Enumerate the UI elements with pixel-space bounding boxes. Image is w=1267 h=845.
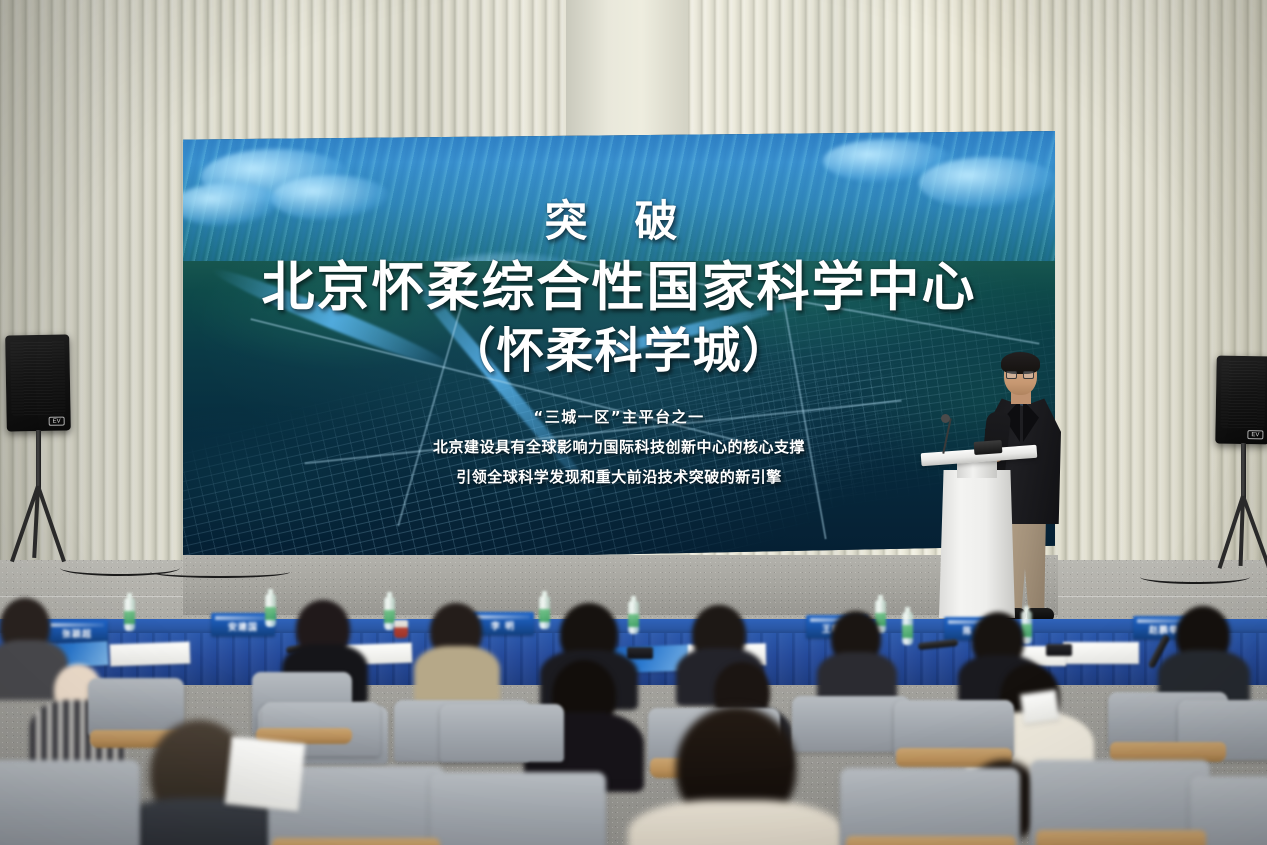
- mobile-phone: [1046, 644, 1072, 656]
- speaker-grille: [10, 340, 65, 416]
- water-bottle: [902, 612, 913, 645]
- handout-paper: [1020, 690, 1060, 725]
- seat-frame: [272, 838, 440, 845]
- water-bottle: [539, 596, 550, 629]
- handout-paper: [225, 736, 306, 811]
- attendee-body: [628, 800, 844, 845]
- speaker-stand-pole: [36, 430, 41, 492]
- curtain-shadow-left: [0, 0, 190, 620]
- speaker-grille: [1221, 361, 1266, 429]
- nameplate: 张颖超: [46, 620, 108, 643]
- floor-cable: [1140, 570, 1250, 584]
- presentation-screen: 突 破 北京怀柔综合性国家科学中心 （怀柔科学城） “三城一区”主平台之一 北京…: [183, 131, 1055, 563]
- seat-frame: [1036, 830, 1206, 845]
- mobile-phone: [627, 647, 653, 659]
- screen-surface: 突 破 北京怀柔综合性国家科学中心 （怀柔科学城） “三城一区”主平台之一 北京…: [183, 131, 1055, 563]
- conference-photo-scene: 突 破 北京怀柔综合性国家科学中心 （怀柔科学城） “三城一区”主平台之一 北京…: [0, 0, 1267, 845]
- nameplate-name: 张颖超: [46, 627, 108, 640]
- auditorium-seat[interactable]: [840, 768, 1020, 845]
- microphone-icon: [941, 414, 950, 423]
- screen-glow: [183, 131, 1055, 563]
- speaker-brand-logo: EV: [49, 417, 65, 426]
- speaker-stand-pole: [1241, 443, 1246, 501]
- document-paper: [1063, 642, 1139, 664]
- auditorium-seat[interactable]: [430, 772, 606, 845]
- seat-frame: [846, 836, 1016, 845]
- attendee-body: [414, 646, 500, 704]
- auditorium-seat[interactable]: [88, 678, 184, 736]
- water-bottle: [628, 601, 639, 634]
- speaker-brand-logo: EV: [1247, 430, 1263, 439]
- auditorium-seat[interactable]: [792, 696, 910, 752]
- glasses-icon: [1006, 371, 1034, 379]
- document-paper: [110, 642, 191, 667]
- water-bottle: [124, 598, 135, 631]
- seat-frame: [1110, 742, 1226, 762]
- podium-body: [939, 470, 1015, 618]
- podium-control-box: [974, 440, 1003, 455]
- water-bottle: [265, 594, 276, 627]
- auditorium-seat[interactable]: [440, 704, 564, 762]
- floor-cable: [150, 566, 290, 578]
- paper-cup: [394, 620, 408, 638]
- auditorium-seat[interactable]: [0, 760, 140, 845]
- speaker-cabinet: EV: [5, 334, 71, 431]
- speaker-cabinet: EV: [1215, 356, 1267, 445]
